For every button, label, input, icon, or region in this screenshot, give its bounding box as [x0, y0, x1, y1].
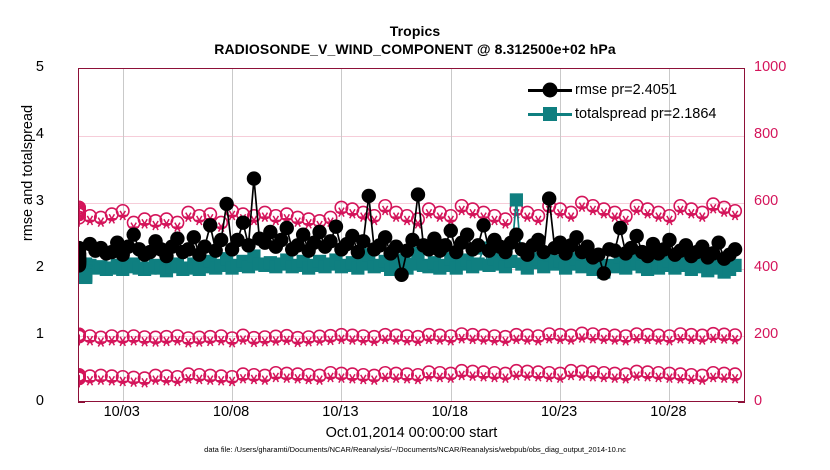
legend-marker-rmse — [528, 83, 572, 97]
data-file-footnote: data file: /Users/gharamti/Documents/NCA… — [0, 445, 830, 454]
x-axis-label: Oct.01,2014 00:00:00 start — [78, 425, 745, 441]
legend-label-rmse: rmse pr=2.4051 — [572, 82, 677, 98]
y-tick-label-left-1: 1 — [4, 326, 44, 342]
x-tick-label-10/08: 10/08 — [191, 404, 271, 420]
legend-item-rmse[interactable]: rmse pr=2.4051 — [528, 78, 743, 102]
legend-marker-totalspread — [528, 107, 572, 121]
title-line-1: Tropics — [0, 22, 830, 40]
y-tick-label-right-0: 0 — [754, 393, 806, 409]
x-tick-label-10/28: 10/28 — [628, 404, 708, 420]
legend-label-totalspread: totalspread pr=2.1864 — [572, 106, 716, 122]
obs-band-assimilated-low — [79, 365, 741, 388]
y-tick-label-right-400: 400 — [754, 259, 806, 275]
x-tick-label-10/03: 10/03 — [82, 404, 162, 420]
y-axis-left-label: rmse and totalspread — [20, 23, 36, 323]
y-tick-label-right-200: 200 — [754, 326, 806, 342]
chart-legend: rmse pr=2.4051 totalspread pr=2.1864 — [528, 78, 743, 126]
obs-band-possible-mid — [79, 327, 741, 347]
obs-band-possible-upper — [79, 196, 741, 231]
title-line-2: RADIOSONDE_V_WIND_COMPONENT @ 8.312500e+… — [0, 40, 830, 59]
y-tick-mark-right-0 — [738, 402, 745, 403]
y-tick-label-right-1000: 1000 — [754, 59, 806, 75]
chart-title: Tropics RADIOSONDE_V_WIND_COMPONENT @ 8.… — [0, 22, 830, 59]
y-tick-label-right-800: 800 — [754, 126, 806, 142]
y-tick-label-right-600: 600 — [754, 193, 806, 209]
x-tick-label-10/18: 10/18 — [410, 404, 490, 420]
y-tick-label-left-0: 0 — [4, 393, 44, 409]
x-tick-label-10/23: 10/23 — [519, 404, 599, 420]
x-tick-label-10/13: 10/13 — [300, 404, 380, 420]
figure-canvas: Tropics RADIOSONDE_V_WIND_COMPONENT @ 8.… — [0, 0, 830, 470]
legend-item-totalspread[interactable]: totalspread pr=2.1864 — [528, 102, 743, 126]
